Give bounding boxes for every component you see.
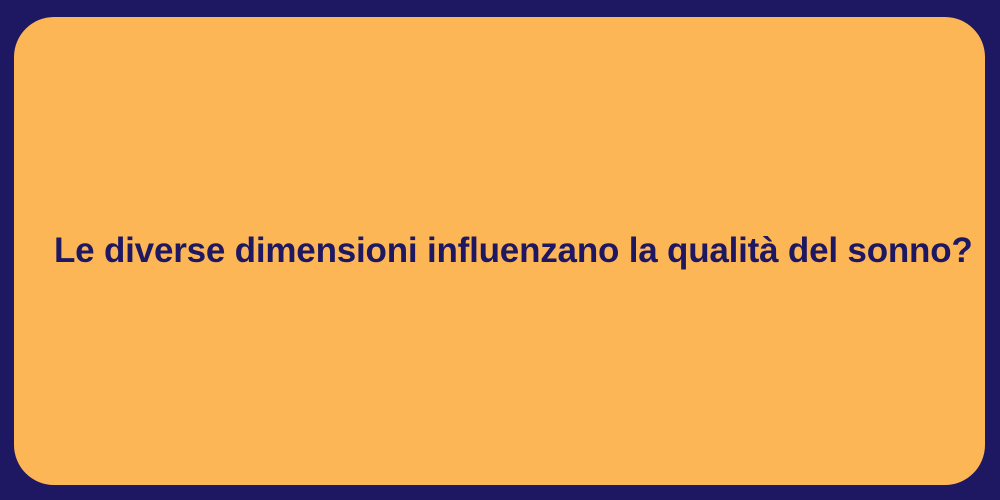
slide-background: Le diverse dimensioni influenzano la qua…	[0, 0, 1000, 500]
page-title: Le diverse dimensioni influenzano la qua…	[14, 230, 985, 273]
headline-card: Le diverse dimensioni influenzano la qua…	[14, 17, 985, 485]
